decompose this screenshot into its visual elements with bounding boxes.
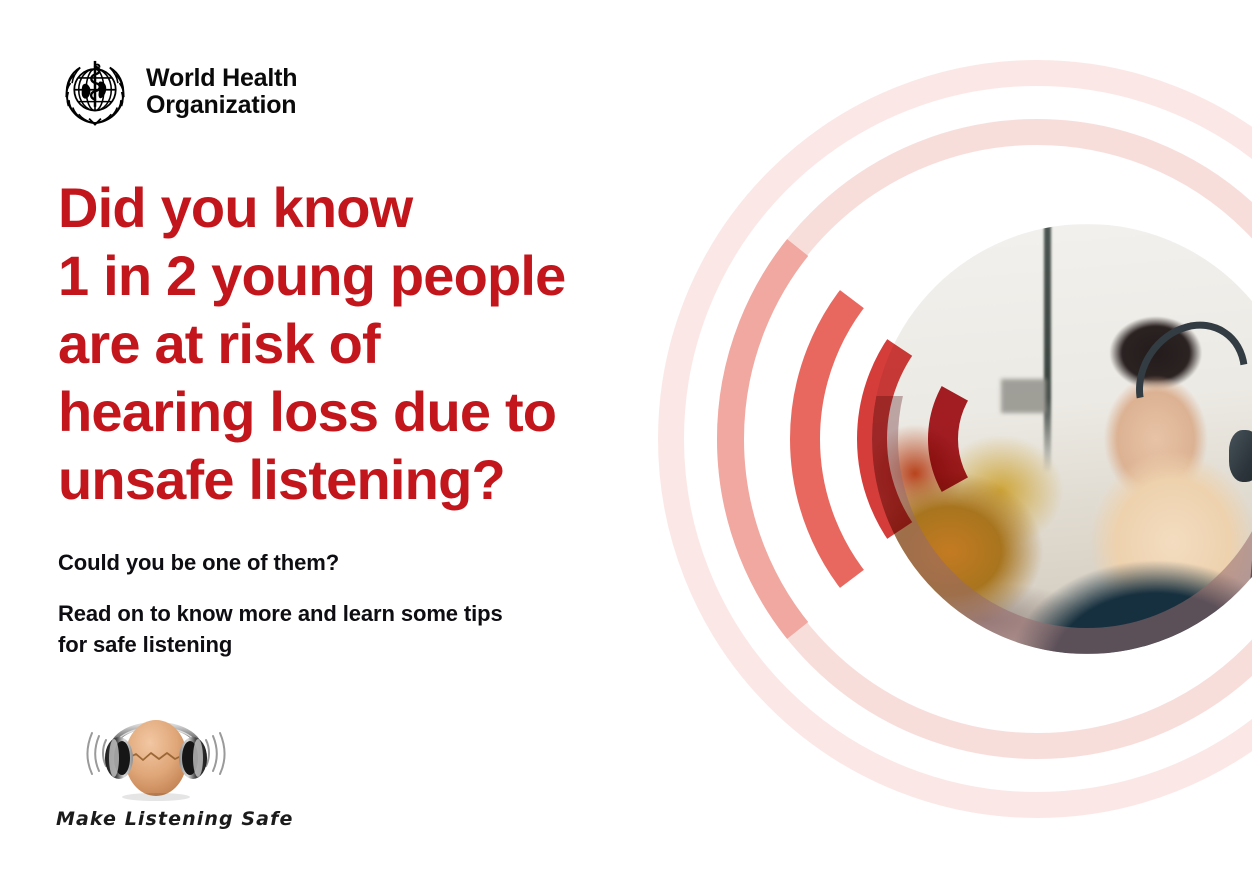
poster-canvas: World Health Organization Did you know 1… <box>0 0 1252 881</box>
who-emblem-icon <box>58 55 132 129</box>
headline-line-3: are at risk of <box>58 310 658 378</box>
subtext-call-to-action: Read on to know more and learn some tips… <box>58 598 528 660</box>
headline-line-5: unsafe listening? <box>58 446 658 514</box>
page-title: Did you know 1 in 2 young people are at … <box>58 174 658 514</box>
who-wordmark: World Health Organization <box>146 65 297 119</box>
subtext-question: Could you be one of them? <box>58 550 339 576</box>
who-logo: World Health Organization <box>58 55 297 129</box>
sound-wave-graphic <box>620 0 1252 881</box>
make-listening-safe-logo: Make Listening Safe <box>56 696 296 830</box>
headline-line-1: Did you know <box>58 174 658 242</box>
cracked-egg-headphones-icon <box>72 696 240 802</box>
headline-line-2: 1 in 2 young people <box>58 242 658 310</box>
headline-line-4: hearing loss due to <box>58 378 658 446</box>
make-listening-safe-tagline: Make Listening Safe <box>56 808 296 830</box>
